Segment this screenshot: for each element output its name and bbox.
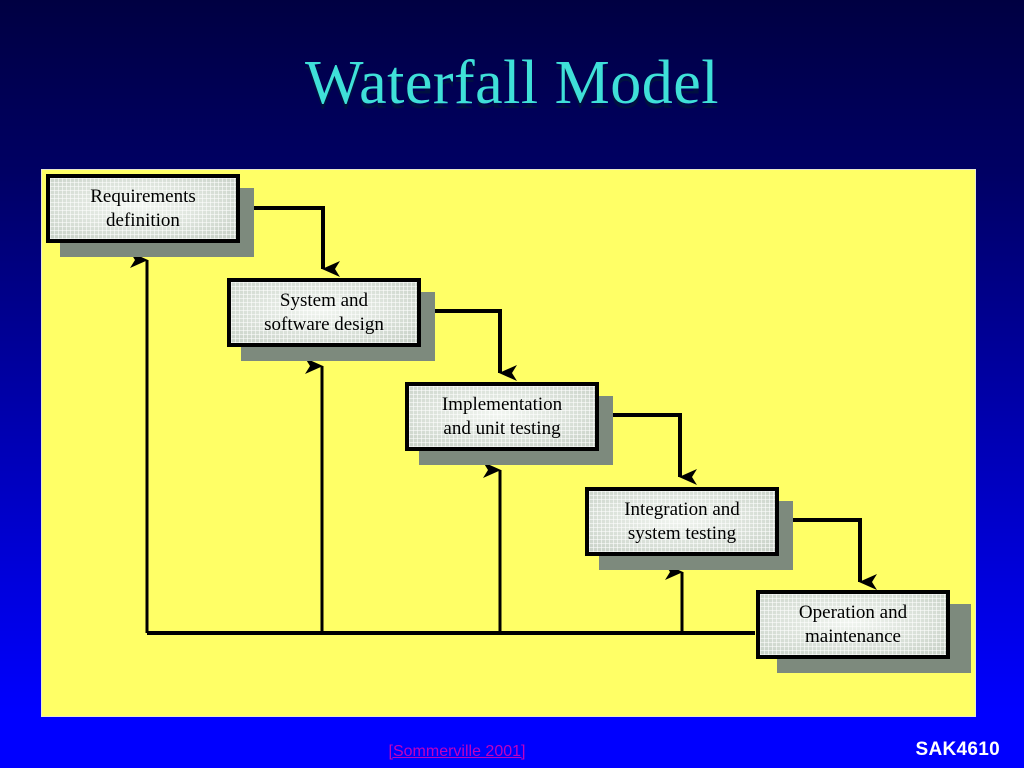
stage-label-line1: Operation and (799, 601, 907, 625)
stage-label-line1: Implementation (442, 393, 562, 417)
footer-reference: [Sommerville 2001] (0, 742, 1024, 762)
page-title-text: Waterfall Model (0, 48, 1024, 118)
stage-label-line2: maintenance (799, 625, 907, 649)
course-code: SAK4610 (916, 738, 1000, 762)
stage-box-system-and-software-design[interactable]: System and software design (227, 278, 421, 347)
stage-label-line2: system testing (624, 522, 740, 546)
page-title: Waterfall Model Waterfall Model (0, 48, 1024, 118)
stage-label-line2: and unit testing (442, 417, 562, 441)
flow-arrow-1 (242, 208, 323, 269)
stage-label-line1: Requirements (90, 185, 196, 209)
stage-box-integration-and-system-testing[interactable]: Integration and system testing (585, 487, 779, 556)
stage-box-implementation-and-unit-testing[interactable]: Implementation and unit testing (405, 382, 599, 451)
slide-canvas: Waterfall Model Waterfall Model (0, 0, 1024, 768)
diagram-panel: Requirements definition System and softw… (42, 170, 975, 716)
stage-label-line1: Integration and (624, 498, 740, 522)
stage-box-requirements-definition[interactable]: Requirements definition (46, 174, 240, 243)
page-title-shadow: Waterfall Model (0, 53, 1024, 123)
stage-box-operation-and-maintenance[interactable]: Operation and maintenance (756, 590, 950, 659)
stage-label-line2: definition (90, 209, 196, 233)
reference-link[interactable]: [Sommerville 2001] (389, 742, 526, 762)
stage-label-line2: software design (264, 313, 384, 337)
stage-label-line1: System and (264, 289, 384, 313)
